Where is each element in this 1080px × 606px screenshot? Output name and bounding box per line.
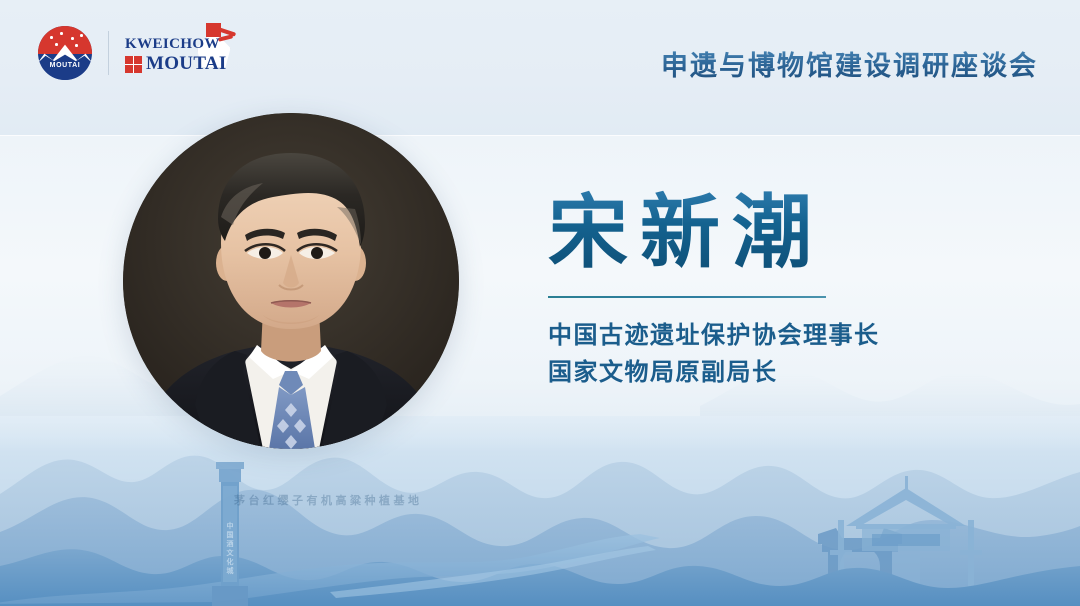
speaker-title-line-1: 中国古迹遗址保护协会理事长 <box>548 318 1008 355</box>
brand-divider <box>108 31 109 75</box>
speaker-name: 宋新潮 <box>548 186 1008 282</box>
moutai-mountain-circle-icon: MOUTAI <box>38 26 92 80</box>
monument-pillar-text: 中国酒文化城 <box>225 522 235 576</box>
kweichow-moutai-wordmark: KWEICHOW MOUTAI <box>125 32 227 74</box>
name-divider-rule <box>548 296 826 298</box>
mountain-river-landscape-icon <box>0 416 1080 606</box>
header-band: MOUTAI KWEICHOW MOUTAI <box>0 0 1080 136</box>
moutai-mark-label: MOUTAI <box>38 62 92 69</box>
landscape-watermark-text: 茅台红缨子有机高粱种植基地 <box>234 492 423 508</box>
portrait-photo-icon <box>123 113 459 449</box>
event-title: 申遗与博物馆建设调研座谈会 <box>661 44 1038 83</box>
speaker-portrait <box>123 113 459 449</box>
wordmark-line-kweichow: KWEICHOW <box>125 36 227 53</box>
brand-logo-group[interactable]: MOUTAI KWEICHOW MOUTAI <box>38 24 227 82</box>
speaker-card: 茅台红缨子有机高粱种植基地 中国酒文化城 MOUTAI <box>0 0 1080 606</box>
wordmark-line-moutai: MOUTAI <box>146 54 227 74</box>
speaker-info: 宋新潮 中国古迹遗址保护协会理事长 国家文物局原副局长 <box>548 186 1008 392</box>
speaker-title-line-2: 国家文物局原副局长 <box>548 355 1008 392</box>
red-seal-icon <box>125 56 142 73</box>
